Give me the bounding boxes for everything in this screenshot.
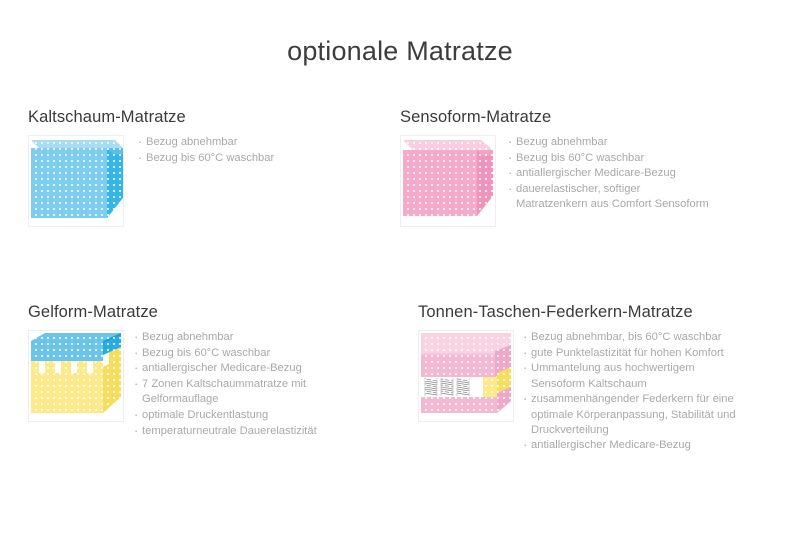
list-item: antiallergischer Medicare-Bezug — [508, 166, 709, 181]
section-body-tonnen: Bezug abnehmbar, bis 60°C waschbar gute … — [418, 330, 793, 454]
sensoform-mattress-illustration — [401, 136, 495, 226]
section-tonnen-taschen-federkern: Tonnen-Taschen-Federkern-Matratze — [418, 303, 793, 454]
section-kaltschaum: Kaltschaum-Matratze Bezug abnehmbar Bezu… — [28, 108, 378, 227]
list-item: Bezug abnehmbar — [508, 135, 709, 150]
kaltschaum-mattress-illustration — [29, 136, 123, 226]
list-item: 7 Zonen Kaltschaummatratze mit Gelformau… — [134, 377, 317, 407]
list-item: Bezug bis 60°C waschbar — [508, 151, 709, 166]
list-item: zusammenhängender Federkern für eine opt… — [523, 392, 736, 438]
list-item: Bezug bis 60°C waschbar — [134, 346, 317, 361]
list-item: Bezug abnehmbar — [138, 135, 274, 150]
kaltschaum-image-frame — [28, 135, 124, 227]
page-title: optionale Matratze — [0, 36, 800, 67]
list-item: antiallergischer Medicare-Bezug — [523, 438, 736, 453]
section-body-kaltschaum: Bezug abnehmbar Bezug bis 60°C waschbar — [28, 135, 378, 227]
section-title-kaltschaum: Kaltschaum-Matratze — [28, 108, 378, 127]
list-item: Bezug abnehmbar, bis 60°C waschbar — [523, 330, 736, 345]
section-title-sensoform: Sensoform-Matratze — [400, 108, 790, 127]
section-sensoform: Sensoform-Matratze Bezug abnehmbar Bezug… — [400, 108, 790, 227]
list-item: Bezug abnehmbar — [134, 330, 317, 345]
list-item: dauerelastischer, softiger Matratzenkern… — [508, 182, 709, 212]
slide-canvas: optionale Matratze Kaltschaum-Matratze — [0, 0, 800, 533]
kaltschaum-feature-list: Bezug abnehmbar Bezug bis 60°C waschbar — [124, 135, 274, 166]
section-gelform: Gelform-Matratze — [28, 303, 388, 439]
list-item: antiallergischer Medicare-Bezug — [134, 361, 317, 376]
tonnen-feature-list: Bezug abnehmbar, bis 60°C waschbar gute … — [514, 330, 736, 454]
list-item: gute Punktelastizität für hohen Komfort — [523, 346, 736, 361]
sensoform-feature-list: Bezug abnehmbar Bezug bis 60°C waschbar … — [496, 135, 709, 213]
gelform-mattress-illustration — [29, 331, 123, 421]
list-item: Ummantelung aus hochwertigem Sensoform K… — [523, 361, 736, 391]
tonnen-image-frame — [418, 330, 514, 422]
gelform-image-frame — [28, 330, 124, 422]
list-item: temperaturneutrale Dauerelastizität — [134, 424, 317, 439]
sensoform-image-frame — [400, 135, 496, 227]
list-item: optimale Druckentlastung — [134, 408, 317, 423]
section-body-sensoform: Bezug abnehmbar Bezug bis 60°C waschbar … — [400, 135, 790, 227]
section-title-tonnen-taschen-federkern: Tonnen-Taschen-Federkern-Matratze — [418, 303, 793, 322]
tonnen-taschen-federkern-mattress-illustration — [419, 331, 513, 421]
section-title-gelform: Gelform-Matratze — [28, 303, 388, 322]
section-body-gelform: Bezug abnehmbar Bezug bis 60°C waschbar … — [28, 330, 388, 439]
list-item: Bezug bis 60°C waschbar — [138, 151, 274, 166]
gelform-feature-list: Bezug abnehmbar Bezug bis 60°C waschbar … — [124, 330, 317, 439]
